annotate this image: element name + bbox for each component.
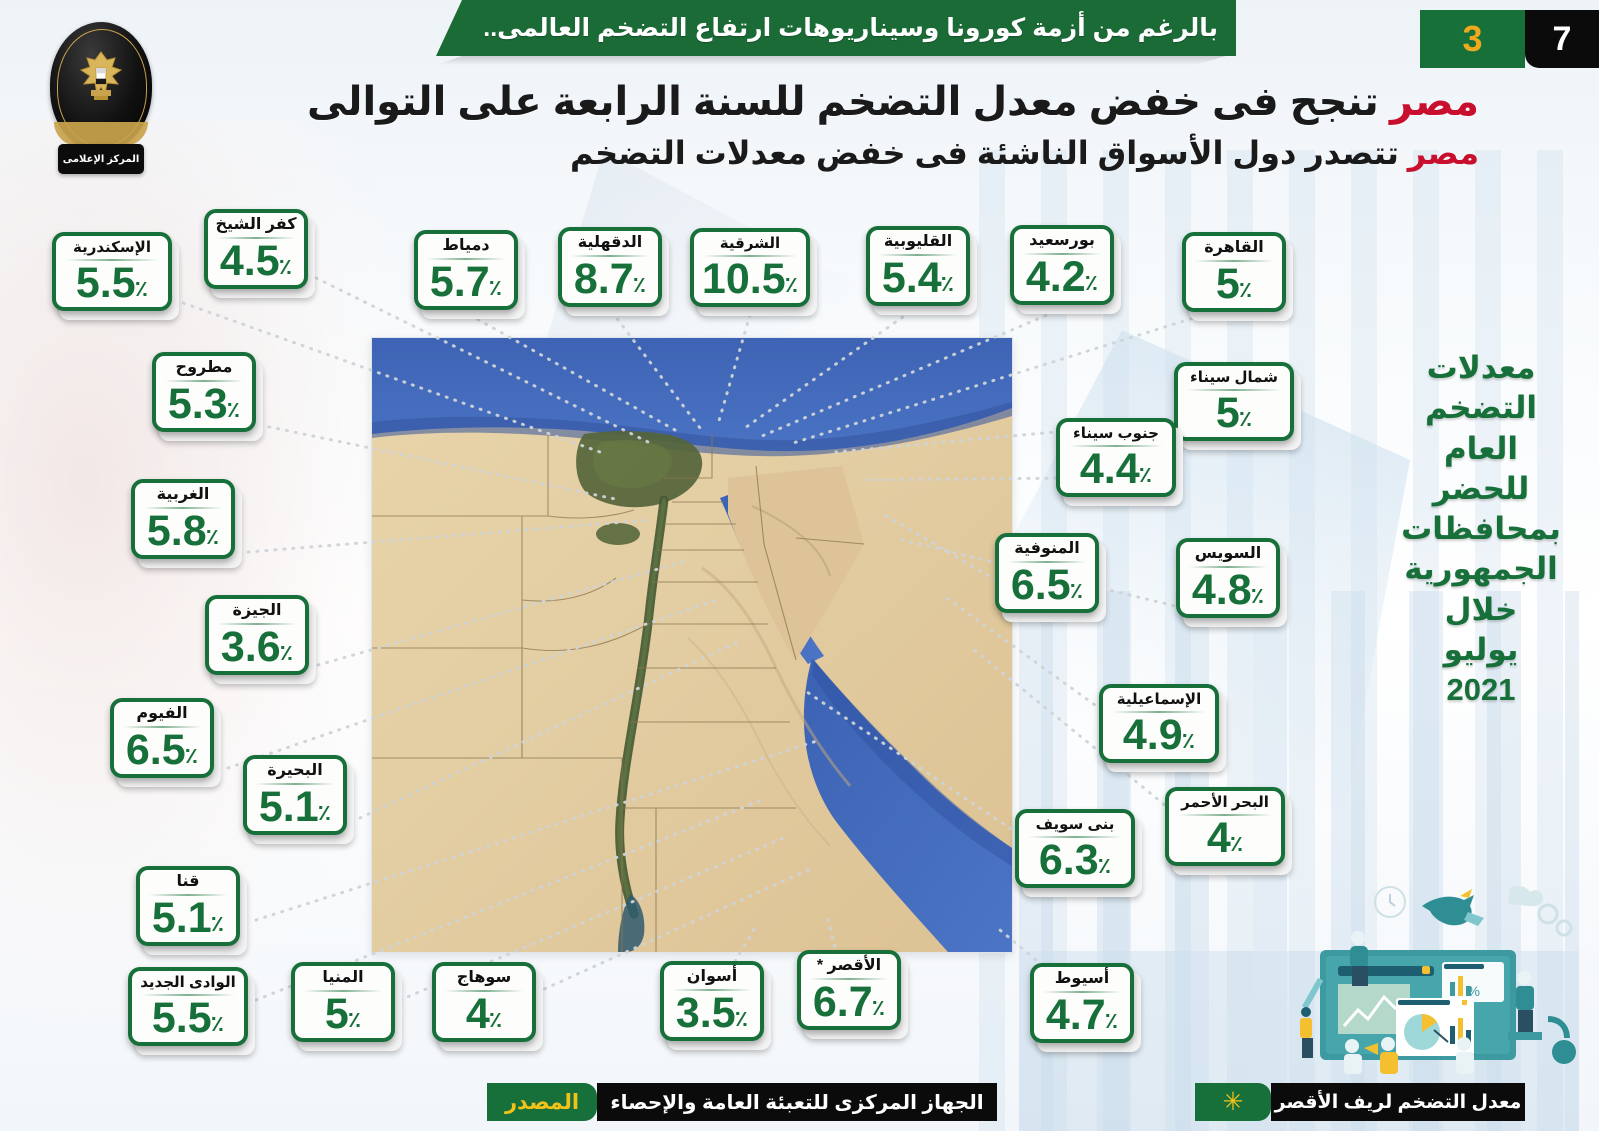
card-body: قنا5.1٪	[136, 866, 240, 946]
svg-text:%: %	[1468, 983, 1480, 999]
inflation-value: 4.5٪	[213, 240, 299, 282]
value-number: 3.6	[221, 626, 281, 668]
governorate-card: كفر الشيخ4.5٪	[204, 209, 308, 289]
inflation-value: 4.9٪	[1108, 714, 1210, 756]
card-body: جنوب سيناء4.4٪	[1056, 418, 1176, 497]
headline-line-1: مصر تنجح فى خفض معدل التضخم للسنة الرابع…	[299, 78, 1479, 127]
headline-highlight-2: مصر	[1408, 135, 1479, 171]
governorate-card: دمياط5.7٪	[414, 230, 518, 310]
percent-sign: ٪	[1139, 464, 1152, 490]
side-title-line-1: التضخم	[1381, 388, 1581, 428]
value-number: 5	[325, 993, 349, 1035]
side-title: معدلات التضخم العام للحضر بمحافظات الجمه…	[1381, 348, 1581, 711]
inflation-value: 5.4٪	[875, 257, 961, 299]
inflation-value: 6.5٪	[119, 729, 205, 771]
card-body: القاهرة5٪	[1182, 232, 1286, 312]
card-body: الغربية5.8٪	[131, 479, 235, 559]
governorate-name: القليوبية	[875, 234, 961, 253]
governorate-name: مطروح	[161, 360, 247, 379]
percent-sign: ٪	[1251, 585, 1264, 611]
value-number: 10.5	[702, 258, 786, 300]
governorate-card: البحر الأحمر4٪	[1165, 787, 1285, 866]
card-inner: الفيوم6.5٪	[114, 702, 210, 774]
percent-sign: ٪	[280, 642, 293, 668]
percent-sign: ٪	[1085, 272, 1098, 298]
percent-sign: ٪	[1105, 1010, 1118, 1036]
percent-sign: ٪	[941, 273, 954, 299]
governorate-name: بورسعيد	[1019, 233, 1105, 252]
card-body: الإسكندرية5.5٪	[52, 232, 172, 311]
inflation-value: 6.3٪	[1024, 839, 1126, 881]
inflation-value: 5.1٪	[145, 897, 231, 939]
card-body: المنيا5٪	[291, 962, 395, 1042]
government-logo: المركز الإعلامى	[36, 16, 166, 181]
inflation-value: 5٪	[1183, 392, 1285, 434]
inflation-value: 4.2٪	[1019, 256, 1105, 298]
card-body: دمياط5.7٪	[414, 230, 518, 310]
headline-highlight-1: مصر	[1390, 80, 1479, 124]
governorate-name: المنيا	[300, 970, 386, 989]
governorate-name: الجيزة	[214, 603, 300, 622]
card-inner: قنا5.1٪	[140, 870, 236, 942]
card-inner: الغربية5.8٪	[135, 483, 231, 555]
percent-sign: ٪	[1230, 833, 1243, 859]
governorate-name: الوادى الجديد	[137, 975, 239, 993]
governorate-name: كفر الشيخ	[213, 217, 299, 236]
governorate-card: بورسعيد4.2٪	[1010, 225, 1114, 305]
card-inner: الشرقية10.5٪	[694, 232, 806, 303]
card-inner: الجيزة3.6٪	[209, 599, 305, 671]
governorate-card: الشرقية10.5٪	[690, 228, 810, 307]
percent-sign: ٪	[1239, 408, 1252, 434]
inflation-value: 4.7٪	[1039, 994, 1125, 1036]
value-number: 4.4	[1080, 448, 1140, 490]
percent-sign: ٪	[633, 274, 646, 300]
logo-plaque: المركز الإعلامى	[58, 144, 144, 174]
card-body: الأقصر *6.7٪	[797, 950, 901, 1030]
card-inner: البحر الأحمر4٪	[1169, 791, 1281, 862]
card-inner: المنوفية6.5٪	[999, 537, 1095, 609]
top-banner-shadow	[436, 56, 1226, 65]
side-title-line-7: يوليو	[1381, 630, 1581, 670]
card-inner: القاهرة5٪	[1186, 236, 1282, 308]
card-body: الشرقية10.5٪	[690, 228, 810, 307]
side-title-line-5: الجمهورية	[1381, 549, 1581, 589]
card-inner: شمال سيناء5٪	[1178, 366, 1290, 437]
page-number-badge: 7 3	[1420, 10, 1599, 68]
value-number: 4	[1207, 817, 1231, 859]
headline-line-2: مصر تتصدر دول الأسواق الناشئة فى خفض معد…	[299, 133, 1479, 173]
governorate-name: القاهرة	[1191, 240, 1277, 259]
value-number: 6.3	[1039, 839, 1099, 881]
percent-sign: ٪	[1098, 855, 1111, 881]
headline-rest-1: تنجح فى خفض معدل التضخم للسنة الرابعة عل…	[307, 80, 1379, 124]
governorate-name: الفيوم	[119, 706, 205, 725]
source-label: المصدر	[487, 1083, 597, 1121]
value-number: 4	[466, 993, 490, 1035]
percent-sign: ٪	[211, 1013, 224, 1039]
governorate-name: البحيرة	[252, 763, 338, 782]
logo-plaque-text: المركز الإعلامى	[63, 154, 140, 165]
card-body: البحر الأحمر4٪	[1165, 787, 1285, 866]
percent-sign: ٪	[489, 1009, 502, 1035]
percent-sign: ٪	[785, 274, 798, 300]
value-number: 3.5	[676, 992, 736, 1034]
card-body: الفيوم6.5٪	[110, 698, 214, 778]
value-number: 5.4	[882, 257, 942, 299]
value-number: 5.1	[152, 897, 212, 939]
governorate-card: سوهاج4٪	[432, 962, 536, 1042]
governorate-card: القاهرة5٪	[1182, 232, 1286, 312]
footnote-text: معدل التضخم لريف الأقصر	[1271, 1083, 1525, 1121]
value-number: 6.5	[126, 729, 186, 771]
value-number: 6.7	[813, 981, 873, 1023]
side-title-line-3: للحضر	[1381, 469, 1581, 509]
governorate-name: البحر الأحمر	[1174, 795, 1276, 813]
card-body: شمال سيناء5٪	[1174, 362, 1294, 441]
governorate-card: الجيزة3.6٪	[205, 595, 309, 675]
governorate-name: جنوب سيناء	[1065, 426, 1167, 444]
headline-rest-2: تتصدر دول الأسواق الناشئة فى خفض معدلات …	[570, 135, 1399, 171]
percent-sign: ٪	[318, 802, 331, 828]
value-number: 5.3	[168, 383, 228, 425]
inflation-value: 5.8٪	[140, 510, 226, 552]
top-banner-text: بالرغم من أزمة كورونا وسيناريوهات ارتفاع…	[483, 13, 1236, 43]
card-inner: كفر الشيخ4.5٪	[208, 213, 304, 285]
value-number: 5.5	[152, 997, 212, 1039]
governorate-card: الإسماعيلية4.9٪	[1099, 684, 1219, 763]
card-body: بورسعيد4.2٪	[1010, 225, 1114, 305]
governorate-card: أسيوط4.7٪	[1030, 963, 1134, 1043]
governorate-card: الأقصر *6.7٪	[797, 950, 901, 1030]
governorate-name: دمياط	[423, 238, 509, 257]
value-number: 5.8	[147, 510, 207, 552]
card-body: الوادى الجديد5.5٪	[128, 967, 248, 1046]
value-number: 4.7	[1046, 994, 1106, 1036]
headline-block: مصر تنجح فى خفض معدل التضخم للسنة الرابع…	[299, 78, 1479, 173]
inflation-value: 3.6٪	[214, 626, 300, 668]
inflation-value: 6.7٪	[806, 981, 892, 1023]
card-inner: المنيا5٪	[295, 966, 391, 1038]
inflation-value: 5.7٪	[423, 261, 509, 303]
inflation-value: 4.8٪	[1185, 569, 1271, 611]
percent-sign: ٪	[227, 399, 240, 425]
card-inner: أسوان3.5٪	[664, 965, 760, 1037]
governorate-card: قنا5.1٪	[136, 866, 240, 946]
governorate-name: سوهاج	[441, 970, 527, 989]
inflation-value: 8.7٪	[567, 258, 653, 300]
governorate-card: الفيوم6.5٪	[110, 698, 214, 778]
percent-sign: ٪	[872, 997, 885, 1023]
percent-sign: ٪	[279, 256, 292, 282]
governorate-name: الإسكندرية	[61, 240, 163, 258]
governorate-name: بنى سويف	[1024, 817, 1126, 835]
card-inner: الإسكندرية5.5٪	[56, 236, 168, 307]
inflation-value: 4٪	[441, 993, 527, 1035]
card-inner: الوادى الجديد5.5٪	[132, 971, 244, 1042]
card-inner: بورسعيد4.2٪	[1014, 229, 1110, 301]
inflation-value: 10.5٪	[699, 258, 801, 300]
card-inner: مطروح5.3٪	[156, 356, 252, 428]
value-number: 5	[1216, 392, 1240, 434]
governorate-name: الإسماعيلية	[1108, 692, 1210, 710]
governorate-card: الدقهلية8.7٪	[558, 227, 662, 307]
inflation-value: 5.1٪	[252, 786, 338, 828]
governorate-name: السويس	[1185, 546, 1271, 565]
card-body: المنوفية6.5٪	[995, 533, 1099, 613]
governorate-name: قنا	[145, 874, 231, 893]
card-inner: أسيوط4.7٪	[1034, 967, 1130, 1039]
top-banner: بالرغم من أزمة كورونا وسيناريوهات ارتفاع…	[436, 0, 1236, 56]
inflation-value: 6.5٪	[1004, 564, 1090, 606]
card-inner: السويس4.8٪	[1180, 542, 1276, 614]
governorate-card: الإسكندرية5.5٪	[52, 232, 172, 311]
side-title-line-2: العام	[1381, 429, 1581, 469]
card-body: أسيوط4.7٪	[1030, 963, 1134, 1043]
asterisk-icon: ✳	[1195, 1083, 1271, 1121]
source-bar: الجهاز المركزى للتعبئة العامة والإحصاء ا…	[487, 1083, 997, 1121]
inflation-value: 4٪	[1174, 817, 1276, 859]
card-inner: الأقصر *6.7٪	[801, 954, 897, 1026]
inflation-value: 5.5٪	[137, 997, 239, 1039]
card-body: الدقهلية8.7٪	[558, 227, 662, 307]
card-body: الإسماعيلية4.9٪	[1099, 684, 1219, 763]
governorate-card: المنيا5٪	[291, 962, 395, 1042]
governorate-card: السويس4.8٪	[1176, 538, 1280, 618]
card-body: بنى سويف6.3٪	[1015, 809, 1135, 888]
inflation-value: 5.3٪	[161, 383, 247, 425]
inflation-value: 5.5٪	[61, 262, 163, 304]
card-inner: الإسماعيلية4.9٪	[1103, 688, 1215, 759]
source-text: الجهاز المركزى للتعبئة العامة والإحصاء	[597, 1083, 997, 1121]
governorate-name: الدقهلية	[567, 235, 653, 254]
card-inner: سوهاج4٪	[436, 966, 532, 1038]
governorate-card: البحيرة5.1٪	[243, 755, 347, 835]
eagle-of-saladin-icon	[74, 50, 128, 112]
governorate-card: المنوفية6.5٪	[995, 533, 1099, 613]
governorate-name: الشرقية	[699, 236, 801, 254]
percent-sign: ٪	[348, 1009, 361, 1035]
logo-gold-arc	[54, 122, 148, 146]
governorate-card: الغربية5.8٪	[131, 479, 235, 559]
page-number-green: 3	[1420, 10, 1525, 68]
percent-sign: ٪	[206, 526, 219, 552]
percent-sign: ٪	[489, 277, 502, 303]
percent-sign: ٪	[135, 278, 148, 304]
value-number: 5	[1216, 263, 1240, 305]
card-body: أسوان3.5٪	[660, 961, 764, 1041]
inflation-value: 4.4٪	[1065, 448, 1167, 490]
governorate-card: بنى سويف6.3٪	[1015, 809, 1135, 888]
value-number: 5.5	[76, 262, 136, 304]
side-title-line-4: بمحافظات	[1381, 509, 1581, 549]
card-body: سوهاج4٪	[432, 962, 536, 1042]
card-body: السويس4.8٪	[1176, 538, 1280, 618]
governorate-name: الأقصر *	[806, 958, 892, 977]
percent-sign: ٪	[1182, 730, 1195, 756]
card-body: الجيزة3.6٪	[205, 595, 309, 675]
governorate-card: الوادى الجديد5.5٪	[128, 967, 248, 1046]
value-number: 5.1	[259, 786, 319, 828]
value-number: 6.5	[1011, 564, 1071, 606]
value-number: 4.2	[1026, 256, 1086, 298]
value-number: 8.7	[574, 258, 634, 300]
governorate-card: القليوبية5.4٪	[866, 226, 970, 306]
inflation-value: 5٪	[1191, 263, 1277, 305]
card-inner: دمياط5.7٪	[418, 234, 514, 306]
percent-sign: ٪	[1070, 580, 1083, 606]
value-number: 5.7	[430, 261, 490, 303]
value-number: 4.8	[1192, 569, 1252, 611]
card-body: مطروح5.3٪	[152, 352, 256, 432]
percent-sign: ٪	[211, 913, 224, 939]
card-body: القليوبية5.4٪	[866, 226, 970, 306]
governorate-name: المنوفية	[1004, 541, 1090, 560]
card-body: كفر الشيخ4.5٪	[204, 209, 308, 289]
egypt-satellite-map	[371, 337, 1013, 953]
governorate-card: جنوب سيناء4.4٪	[1056, 418, 1176, 497]
card-inner: جنوب سيناء4.4٪	[1060, 422, 1172, 493]
side-title-line-8: 2021	[1381, 670, 1581, 710]
card-inner: الدقهلية8.7٪	[562, 231, 658, 303]
value-number: 4.5	[220, 240, 280, 282]
side-title-line-6: خلال	[1381, 590, 1581, 630]
card-body: البحيرة5.1٪	[243, 755, 347, 835]
inflation-value: 3.5٪	[669, 992, 755, 1034]
governorate-name: أسيوط	[1039, 971, 1125, 990]
inflation-value: 5٪	[300, 993, 386, 1035]
governorate-name: الغربية	[140, 487, 226, 506]
percent-sign: ٪	[1239, 279, 1252, 305]
page-number-black: 7	[1525, 10, 1599, 68]
map-graphic	[372, 338, 1012, 952]
analytics-illustration: %	[1272, 866, 1588, 1080]
percent-sign: ٪	[185, 745, 198, 771]
card-inner: بنى سويف6.3٪	[1019, 813, 1131, 884]
governorate-name: أسوان	[669, 969, 755, 988]
governorate-name: شمال سيناء	[1183, 370, 1285, 388]
value-number: 4.9	[1123, 714, 1183, 756]
card-inner: القليوبية5.4٪	[870, 230, 966, 302]
governorate-card: شمال سيناء5٪	[1174, 362, 1294, 441]
side-title-line-0: معدلات	[1381, 348, 1581, 388]
governorate-card: أسوان3.5٪	[660, 961, 764, 1041]
governorate-card: مطروح5.3٪	[152, 352, 256, 432]
footnote-bar: معدل التضخم لريف الأقصر ✳	[1195, 1083, 1525, 1121]
percent-sign: ٪	[735, 1008, 748, 1034]
card-inner: البحيرة5.1٪	[247, 759, 343, 831]
